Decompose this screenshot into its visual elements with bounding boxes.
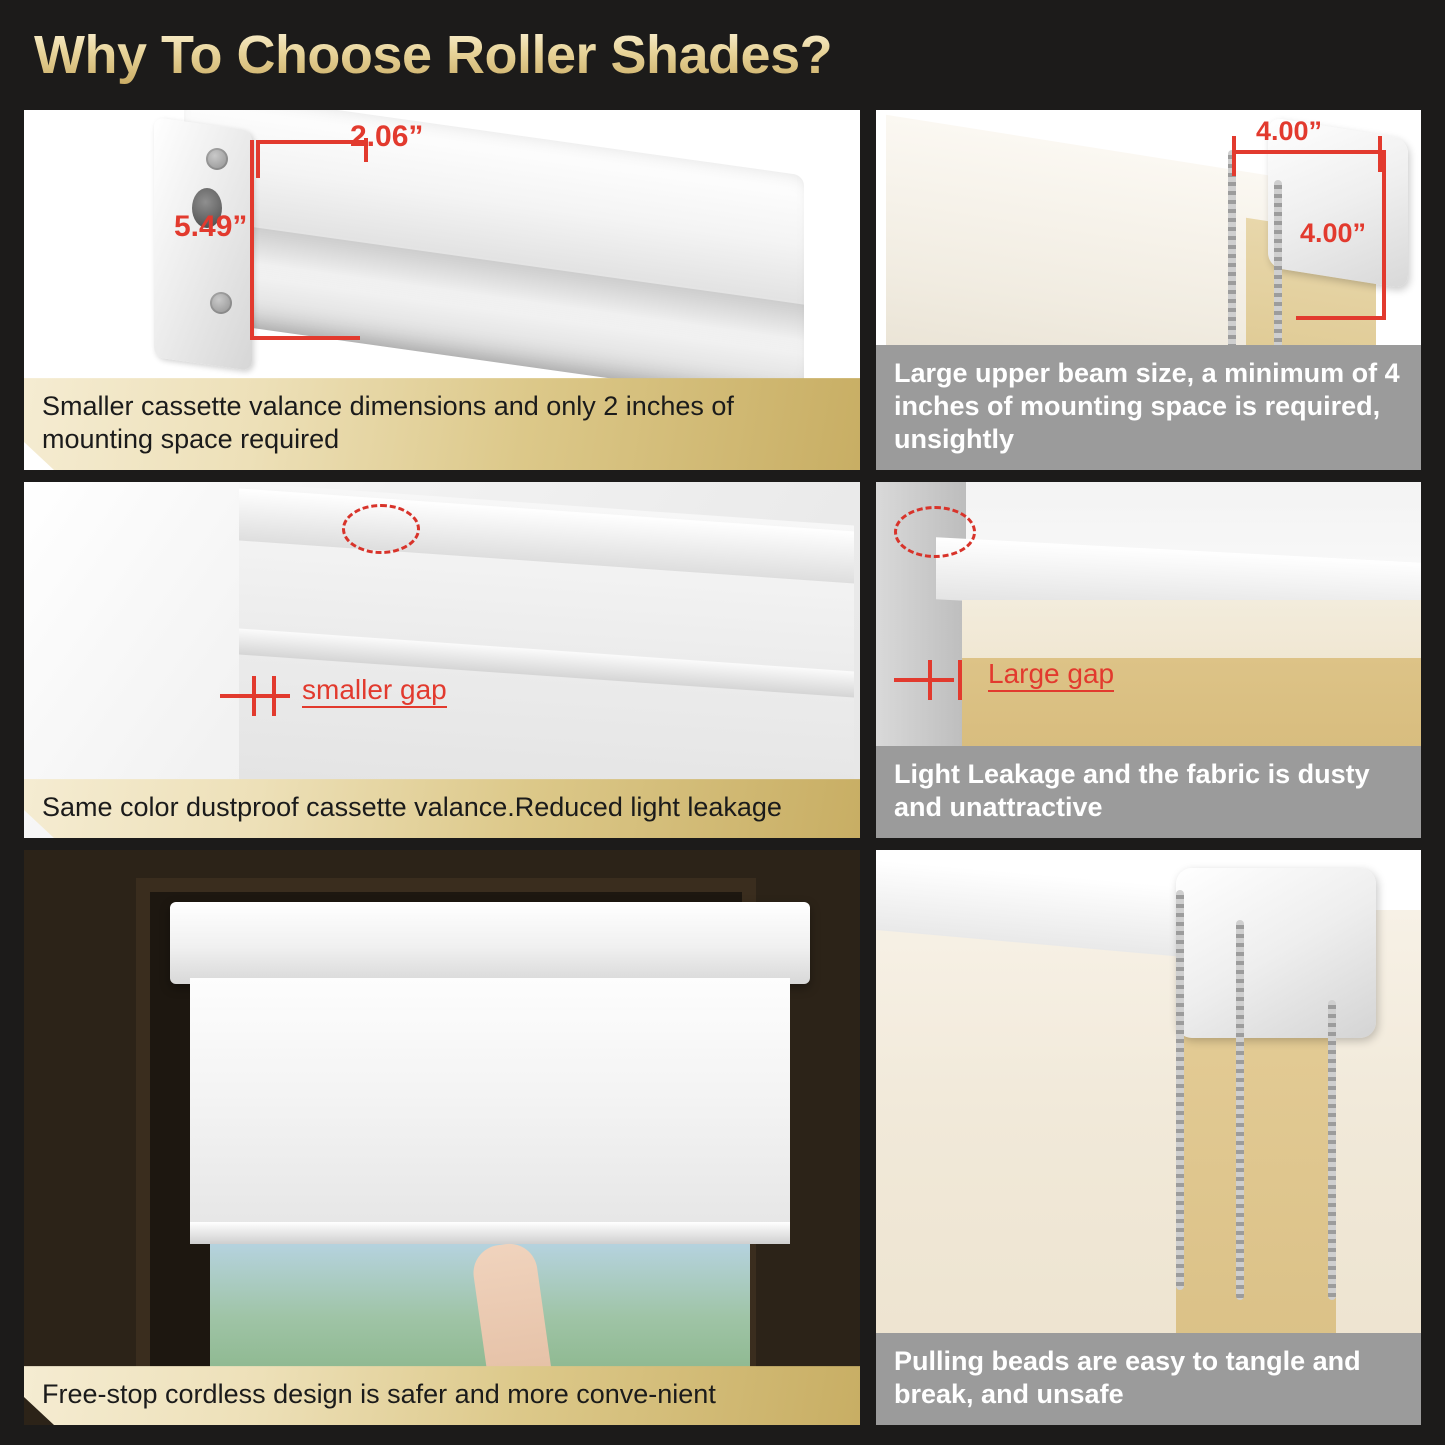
dim-line-depth bbox=[1382, 150, 1386, 320]
bead-chain-long-far-icon bbox=[1328, 1000, 1336, 1300]
panel-grid: 2.06” 5.49” Smaller cassette valance dim… bbox=[24, 110, 1421, 1425]
bead-chain-long-right-icon bbox=[1236, 920, 1244, 1300]
panel-5-image bbox=[24, 850, 860, 1425]
panel-middle-left: smaller gap Same color dustproof cassett… bbox=[24, 482, 860, 838]
cassette-end-cap bbox=[154, 117, 252, 371]
window bbox=[136, 878, 756, 1407]
panel-middle-right: Large gap Light Leakage and the fabric i… bbox=[876, 482, 1421, 838]
dim-tick-depth bbox=[1296, 316, 1386, 320]
gap-highlight-ellipse-2 bbox=[894, 506, 976, 558]
gap-arrow-left-2 bbox=[894, 678, 954, 682]
bottom-rail bbox=[190, 1222, 790, 1244]
dimension-depth-label: 4.00” bbox=[1300, 218, 1366, 249]
panel-3-caption: Same color dustproof cassette valance.Re… bbox=[24, 779, 860, 838]
dim-line-width2 bbox=[1232, 150, 1382, 154]
screw-top-icon bbox=[206, 148, 228, 170]
gap-tick-b bbox=[272, 676, 276, 716]
roller-shade-fabric bbox=[190, 978, 790, 1228]
dimension-width-label-2: 4.00” bbox=[1256, 116, 1322, 147]
infographic-page: Why To Choose Roller Shades? 2.06” 5.49” bbox=[0, 0, 1445, 1445]
gap-tick-d bbox=[958, 660, 962, 700]
cassette-valance-body bbox=[184, 110, 804, 406]
dim-tick-bottom bbox=[250, 336, 360, 340]
panel-1-caption: Smaller cassette valance dimensions and … bbox=[24, 378, 860, 470]
gap-tick-a bbox=[252, 676, 256, 716]
panel-6-caption: Pulling beads are easy to tangle and bre… bbox=[876, 1333, 1421, 1425]
dim-line-height bbox=[250, 140, 254, 340]
dim-tick-left bbox=[256, 142, 260, 178]
smaller-gap-label: smaller gap bbox=[302, 674, 447, 708]
panel-bottom-left: Free-stop cordless design is safer and m… bbox=[24, 850, 860, 1425]
gap-tick-c bbox=[928, 660, 932, 700]
gap-highlight-ellipse bbox=[342, 504, 420, 554]
page-title: Why To Choose Roller Shades? bbox=[34, 24, 832, 86]
bead-chain-long-left-icon bbox=[1176, 890, 1184, 1290]
cassette-valance-installed bbox=[170, 902, 810, 984]
panel-top-left: 2.06” 5.49” Smaller cassette valance dim… bbox=[24, 110, 860, 470]
dim-tick-w-left bbox=[1232, 136, 1236, 176]
panel-top-right: 4.00” 4.00” Large upper beam size, a min… bbox=[876, 110, 1421, 470]
dimension-width-label: 2.06” bbox=[350, 120, 423, 154]
panel-2-caption: Large upper beam size, a minimum of 4 in… bbox=[876, 345, 1421, 470]
screw-bottom-icon bbox=[210, 292, 232, 314]
panel-4-caption: Light Leakage and the fabric is dusty an… bbox=[876, 746, 1421, 838]
panel-5-caption: Free-stop cordless design is safer and m… bbox=[24, 1366, 860, 1425]
large-gap-label: Large gap bbox=[988, 658, 1114, 692]
panel-bottom-right: Pulling beads are easy to tangle and bre… bbox=[876, 850, 1421, 1425]
dimension-height-label: 5.49” bbox=[174, 210, 247, 244]
roller-bracket bbox=[1176, 868, 1376, 1038]
